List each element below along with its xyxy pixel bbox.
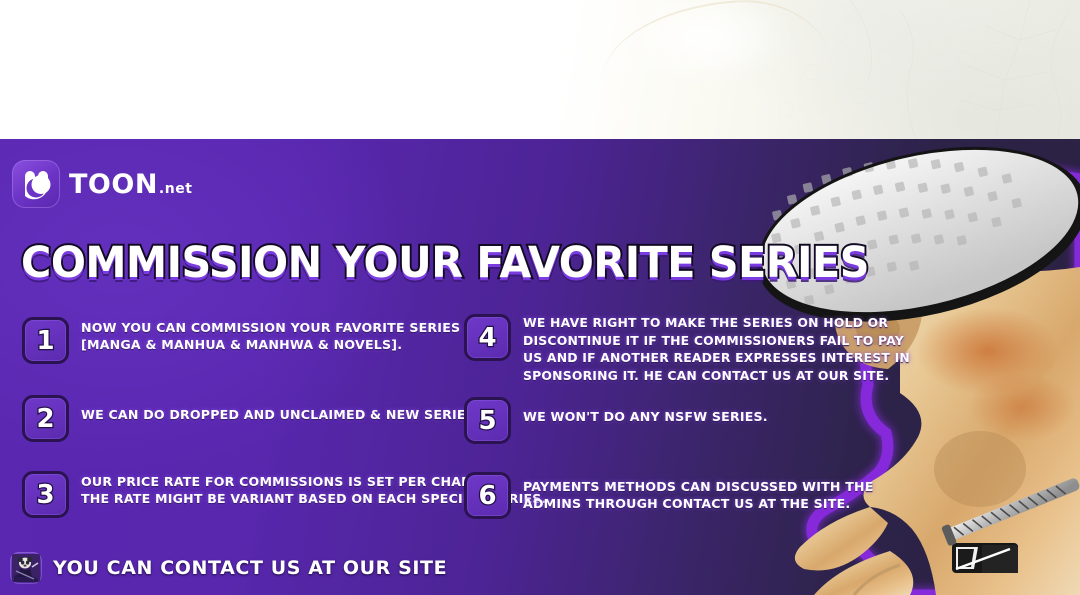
main-purple-panel: TOON .net COMMISSION YOUR FAVORITE SERIE…	[0, 139, 1080, 595]
contact-us-label: YOU CAN CONTACT US AT OUR SITE	[53, 557, 447, 579]
page-title: COMMISSION YOUR FAVORITE SERIES	[21, 242, 869, 285]
contact-us-row[interactable]: YOU CAN CONTACT US AT OUR SITE	[10, 552, 447, 584]
brand-tld-text: .net	[159, 182, 192, 196]
item-number-badge: 4	[464, 314, 511, 361]
item-text: WE HAVE RIGHT TO MAKE THE SERIES ON HOLD…	[523, 314, 910, 384]
banner-leaf-texture-icon	[600, 0, 1080, 139]
brand-name-text: TOON	[69, 171, 158, 198]
list-item: 6 PAYMENTS METHODS CAN DISCUSSED WITH TH…	[464, 472, 874, 519]
list-item: 4 WE HAVE RIGHT TO MAKE THE SERIES ON HO…	[464, 314, 910, 384]
item-number-badge: 2	[22, 395, 69, 442]
list-item: 5 WE WON'T DO ANY NSFW SERIES.	[464, 397, 768, 444]
crescent-moon-logo-icon	[12, 160, 60, 208]
commission-announcement-banner: TOON .net COMMISSION YOUR FAVORITE SERIE…	[0, 0, 1080, 595]
list-item: 2 WE CAN DO DROPPED AND UNCLAIMED & NEW …	[22, 395, 480, 442]
item-text: WE WON'T DO ANY NSFW SERIES.	[523, 397, 768, 425]
item-text: PAYMENTS METHODS CAN DISCUSSED WITH THE …	[523, 472, 874, 513]
item-text: NOW YOU CAN COMMISSION YOUR FAVORITE SER…	[81, 317, 460, 354]
item-number-badge: 3	[22, 471, 69, 518]
item-number-badge: 1	[22, 317, 69, 364]
list-item: 1 NOW YOU CAN COMMISSION YOUR FAVORITE S…	[22, 317, 460, 364]
brand-name: TOON .net	[69, 171, 192, 198]
mascot-avatar-icon	[10, 552, 42, 584]
top-banner-texture	[0, 0, 1080, 139]
brand-logo-group[interactable]: TOON .net	[12, 160, 192, 208]
item-number-badge: 6	[464, 472, 511, 519]
item-number-badge: 5	[464, 397, 511, 444]
item-text: WE CAN DO DROPPED AND UNCLAIMED & NEW SE…	[81, 395, 480, 423]
